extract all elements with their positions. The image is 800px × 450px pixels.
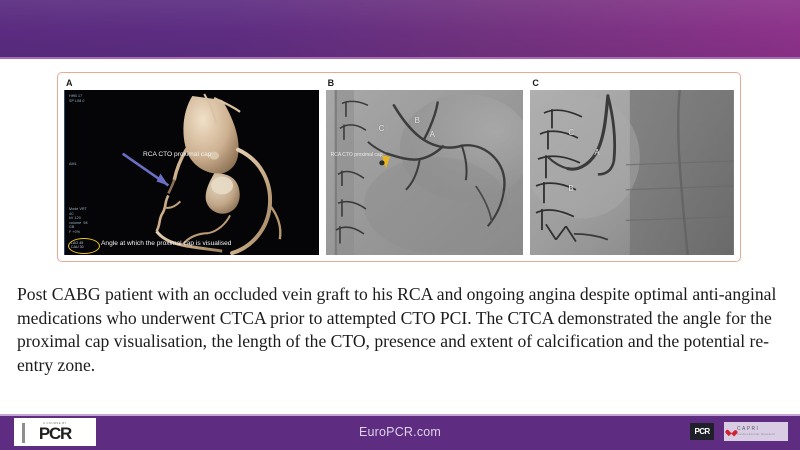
footer-website-link[interactable]: EuroPCR.com [0, 414, 800, 450]
ct-proximal-cap-label: RCA CTO proximal cap [143, 151, 211, 158]
pcr-badge-label: PCR [694, 427, 709, 436]
panel-a-image[interactable]: HHB 17 SP L08 0 AM1 Mode VRT 4C kV 120 v… [64, 90, 319, 255]
angio-b-label-c: C [379, 124, 385, 133]
angiogram-c-render [530, 90, 734, 255]
figure-panel-b[interactable]: B [326, 78, 524, 255]
dicom-side-text: AM1 [69, 162, 77, 167]
angiogram-b-render [326, 90, 524, 255]
angio-b-label-a: A [430, 130, 435, 139]
ct-angle-caption: Angle at which the proximal cap is visua… [101, 240, 231, 247]
angio-b-label-b: B [415, 116, 420, 125]
heart-icon [728, 428, 735, 435]
capri-badge-tagline: Cardiovascular Research [737, 432, 775, 437]
header-underline [0, 57, 800, 59]
ct-coronary-tree-render [65, 90, 319, 255]
angio-c-label-b: B [568, 184, 573, 193]
dicom-params-text: Mode VRT 4C kV 120 volume 98 GB F +0% [69, 207, 88, 235]
panel-letter-a: A [64, 78, 319, 90]
angio-c-label-a: A [594, 148, 599, 157]
figure-panel-a[interactable]: A [64, 78, 319, 255]
slide-footer-bar: A COURSE BY PCR EuroPCR.com PCR CAPRI Ca… [0, 414, 800, 450]
pcr-badge-logo: PCR [690, 423, 714, 440]
header-gradient-sheen [0, 0, 800, 57]
panel-letter-c: C [530, 78, 734, 90]
slide-header-bar [0, 0, 800, 57]
angle-highlight-ellipse [68, 238, 100, 254]
panel-c-image[interactable]: C A B [530, 90, 734, 255]
figure-panel-c[interactable]: C [530, 78, 734, 255]
panel-letter-b: B [326, 78, 524, 90]
angio-b-proximal-cap-label: RCA CTO proximal cap [331, 152, 383, 158]
figure-container: A [57, 72, 741, 262]
capri-badge-logo: CAPRI Cardiovascular Research [724, 422, 788, 441]
panel-b-image[interactable]: C B A RCA CTO proximal cap [326, 90, 524, 255]
dicom-header-text: HHB 17 SP L08 0 [69, 94, 85, 103]
case-description-text: Post CABG patient with an occluded vein … [17, 283, 783, 377]
angio-c-label-c: C [568, 128, 574, 137]
capri-badge-text: CAPRI Cardiovascular Research [737, 427, 775, 437]
